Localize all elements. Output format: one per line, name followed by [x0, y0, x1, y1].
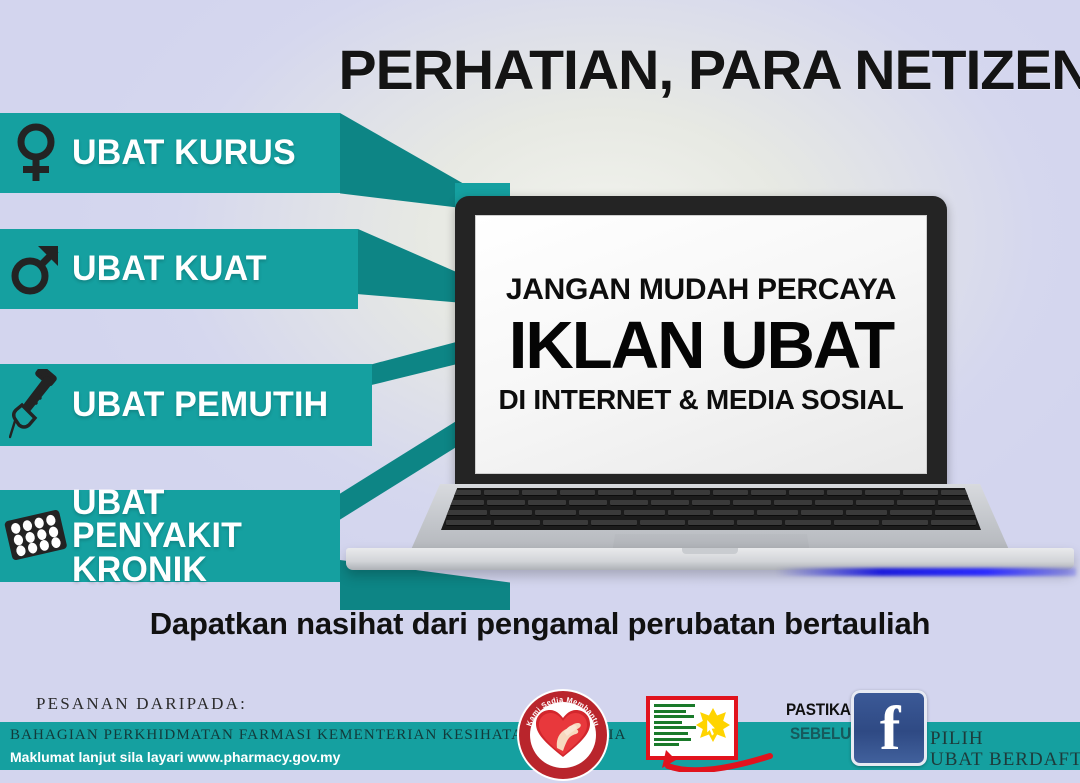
ps-arrow-icon — [660, 748, 780, 772]
heart-hand-icon — [534, 708, 592, 760]
banner-item-ubat-pemutih[interactable]: UBAT PEMUTIH — [0, 364, 372, 446]
footer-website: Maklumat lanjut sila layari www.pharmacy… — [10, 749, 340, 765]
screen-line-3: DI INTERNET & MEDIA SOSIAL — [499, 384, 904, 416]
poster-canvas: PERHATIAN, PARA NETIZEN JANGAN MUDAH PER… — [0, 0, 1080, 783]
laptop-illustration: JANGAN MUDAH PERCAYA IKLAN UBAT DI INTER… — [340, 196, 1080, 581]
banner-label: UBAT KUAT — [72, 252, 267, 286]
tagline: Dapatkan nasihat dari pengamal perubatan… — [0, 606, 1080, 642]
laptop-keyboard — [441, 488, 981, 530]
pill-blister-icon — [0, 490, 72, 582]
footer-pesanan-label: PESANAN DARIPADA: — [36, 694, 247, 714]
page-title: PERHATIAN, PARA NETIZEN — [363, 33, 1067, 105]
kkm-logo: Kami Sedia Membantu KEMENTERIAN KESIHATA… — [519, 691, 607, 779]
laptop-screen: JANGAN MUDAH PERCAYA IKLAN UBAT DI INTER… — [475, 215, 927, 474]
banner-label: UBAT PEMUTIH — [72, 388, 328, 422]
laptop-base — [346, 484, 1074, 576]
banner-label: UBAT PENYAKIT KRONIK — [72, 486, 332, 587]
facebook-icon[interactable]: f — [851, 690, 927, 766]
laptop-lid: JANGAN MUDAH PERCAYA IKLAN UBAT DI INTER… — [455, 196, 947, 492]
blue-glow-accent — [776, 568, 1076, 576]
screen-line-2: IKLAN UBAT — [509, 311, 893, 381]
pastikan-semak-logo: PASTIKAN SEMAK SEBELUM KLIK — [646, 694, 846, 774]
ps-burst-icon — [696, 708, 730, 742]
male-symbol-icon — [0, 229, 72, 309]
female-symbol-icon — [0, 113, 72, 193]
banner-label: UBAT KURUS — [72, 136, 296, 170]
laptop-latch-notch — [682, 548, 738, 554]
banner-item-ubat-kuat[interactable]: UBAT KUAT — [0, 229, 358, 309]
facebook-label-line-2: UBAT BERDAFTAR — [930, 749, 1080, 771]
facebook-label-line-1: PILIH — [930, 728, 984, 750]
facebook-f-glyph: f — [880, 705, 901, 755]
screen-line-1: JANGAN MUDAH PERCAYA — [506, 273, 896, 307]
ps-text-lines-icon — [654, 704, 700, 750]
syringe-icon — [0, 364, 72, 446]
banner-item-ubat-penyakit-kronik[interactable]: UBAT PENYAKIT KRONIK — [0, 490, 340, 582]
banner-item-ubat-kurus[interactable]: UBAT KURUS — [0, 113, 340, 193]
